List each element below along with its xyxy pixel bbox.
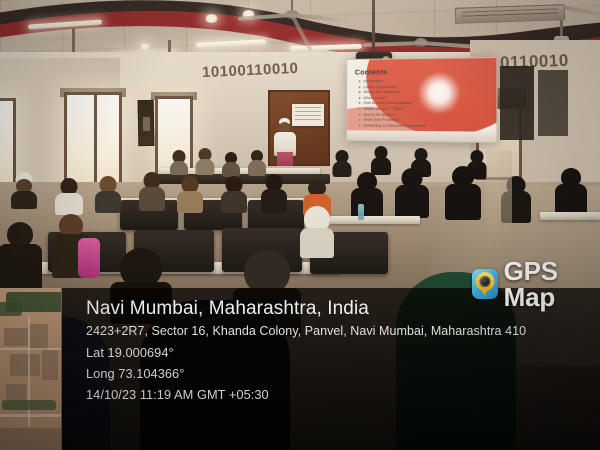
student — [372, 146, 390, 174]
pillar — [486, 150, 512, 260]
desk — [330, 216, 420, 224]
screen-lower-edge — [347, 130, 496, 142]
student — [446, 166, 480, 218]
wall-poster — [138, 100, 155, 146]
timestamp-value: 14/10/23 11:19 AM GMT +05:30 — [86, 384, 600, 405]
student — [196, 148, 214, 174]
student — [262, 174, 286, 212]
gps-map-camera-icon — [472, 269, 498, 299]
projector-mount-pole — [372, 0, 375, 54]
student — [170, 150, 188, 174]
student — [333, 150, 351, 176]
location-address: 2423+2R7, Sector 16, Khanda Colony, Panv… — [86, 321, 600, 342]
water-bottle — [358, 204, 364, 220]
student — [352, 172, 382, 216]
gps-map-camera-photo: 10100110010 0110010 Contents Introductio… — [0, 0, 600, 450]
desk — [540, 212, 600, 220]
presenter — [272, 118, 298, 166]
gps-map-watermark: GPS Map — [472, 258, 600, 310]
student — [222, 176, 246, 212]
app-name-label: GPS Map — [504, 258, 600, 310]
student-clothing-pink — [78, 238, 100, 278]
student — [96, 176, 120, 212]
ceiling-spot-light — [140, 43, 150, 50]
longitude-value: Long 73.104366° — [86, 363, 600, 384]
location-info-panel: Navi Mumbai, Maharashtra, India 2423+2R7… — [62, 288, 600, 450]
dark-wall-board — [500, 66, 534, 140]
student — [140, 172, 164, 210]
student — [56, 178, 82, 214]
student — [396, 168, 428, 216]
student — [178, 176, 202, 212]
projector-glare — [417, 73, 461, 114]
ceiling-spot-light — [205, 14, 218, 23]
projection-screen: Contents Introduction Career opportuniti… — [346, 57, 497, 143]
dark-wall-board — [538, 70, 568, 136]
student — [248, 150, 265, 175]
camera-lens-icon — [479, 276, 490, 287]
slide-title: Contents — [355, 67, 388, 76]
student — [222, 152, 239, 176]
latitude-value: Lat 19.000694° — [86, 342, 600, 363]
student — [0, 222, 40, 292]
student — [556, 168, 586, 216]
student-white-hijab — [300, 206, 334, 254]
student — [12, 172, 36, 206]
satellite-map-thumbnail[interactable] — [0, 288, 62, 450]
